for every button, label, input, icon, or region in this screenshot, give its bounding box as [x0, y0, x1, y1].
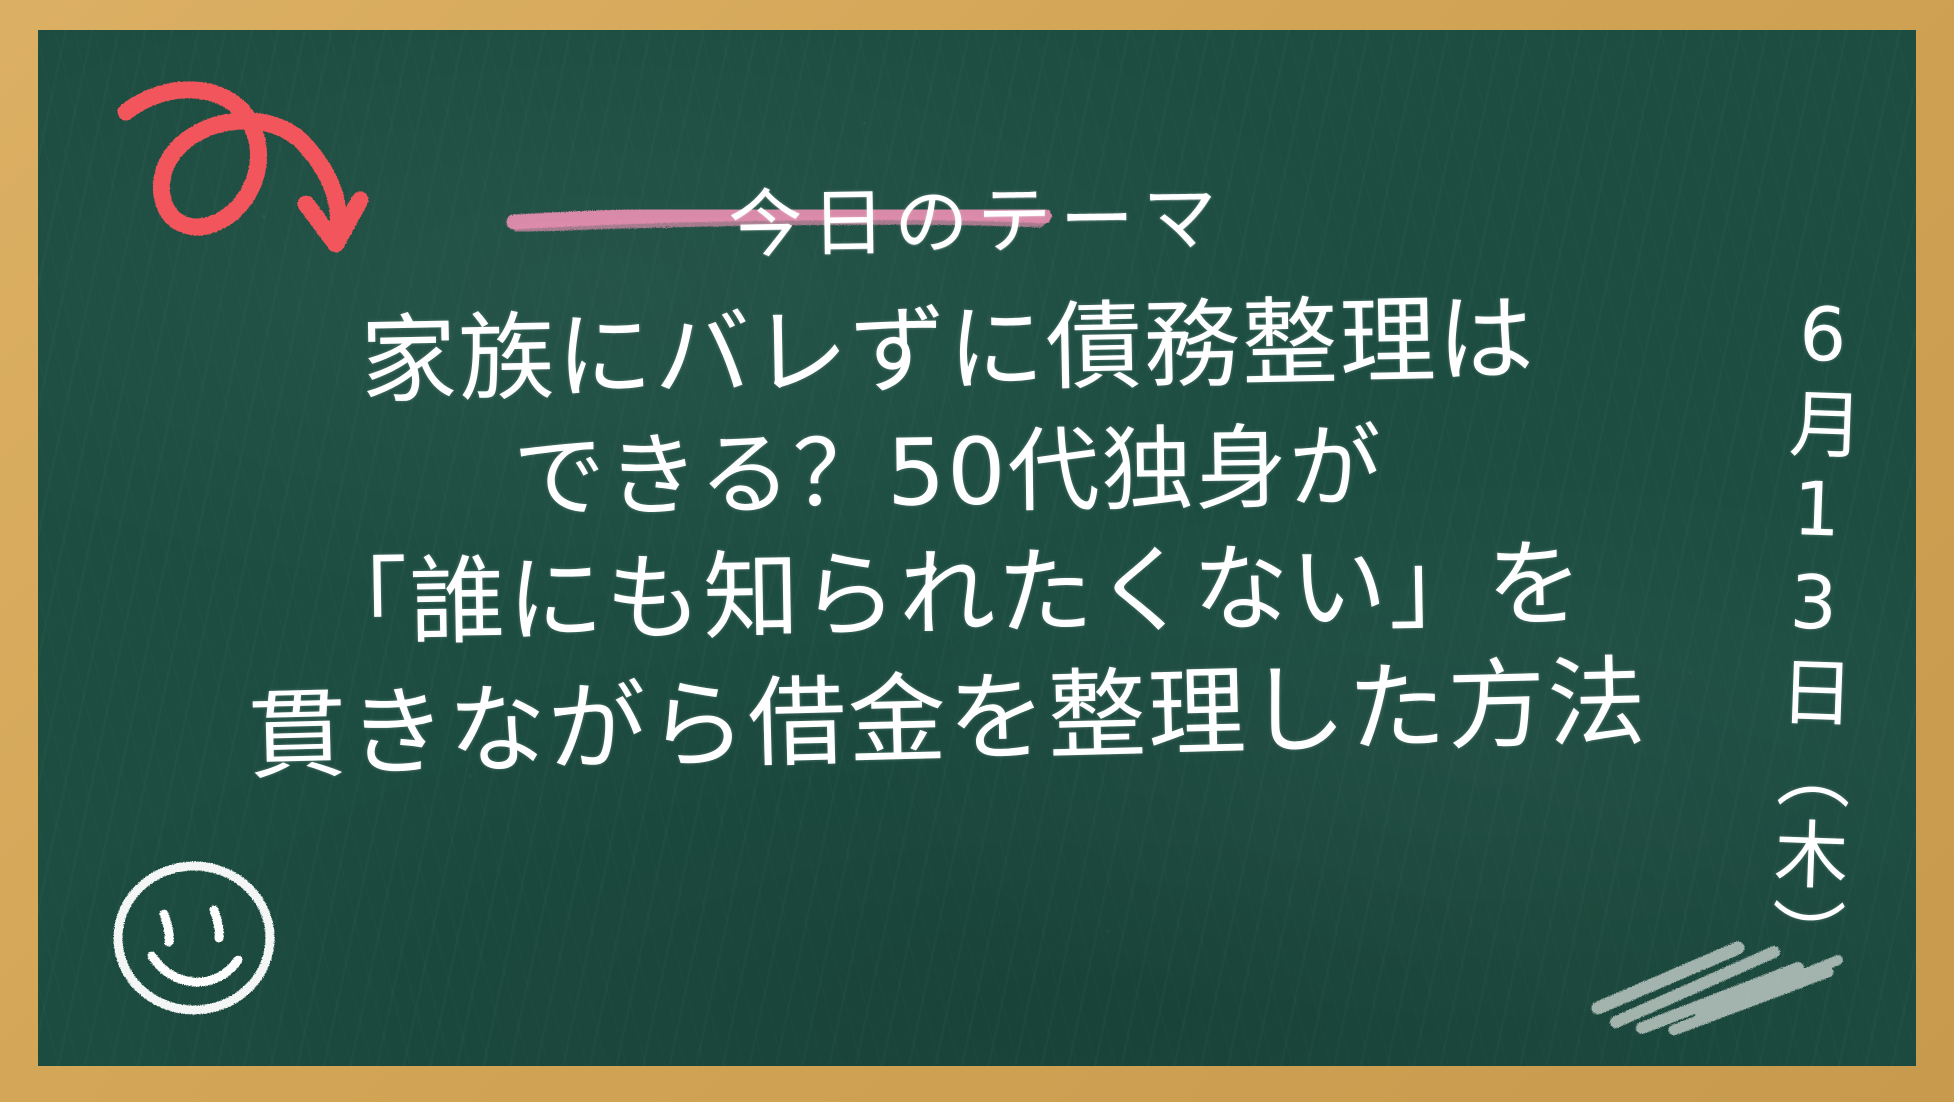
chalkboard-thumbnail: 今日のテーマ 家族にバレずに債務整理は できる？50代独身が 「誰にも知られたく… [0, 0, 1954, 1102]
headline-line-2: できる？50代独身が [207, 404, 1688, 542]
headline-block: 家族にバレずに債務整理は できる？50代独身が 「誰にも知られたくない」を 貫き… [208, 288, 1688, 785]
chalk-smiley-face-icon [118, 866, 270, 1010]
chalkboard-surface: 今日のテーマ 家族にバレずに債務整理は できる？50代独身が 「誰にも知られたく… [38, 30, 1916, 1066]
headline-line-1: 家族にバレずに債務整理は [207, 274, 1689, 427]
